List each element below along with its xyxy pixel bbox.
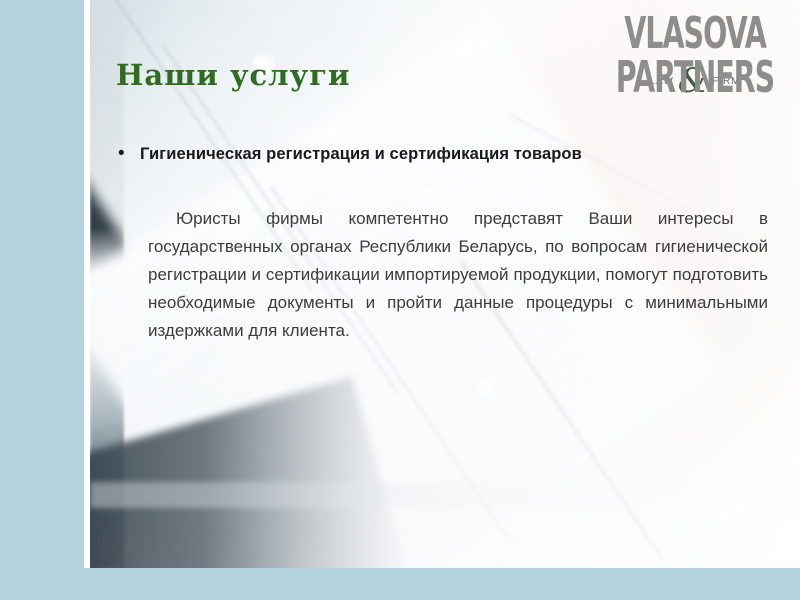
presentation-slide: VLASOVA LAW & FIRM PARTNERS Наши услуги … — [0, 0, 800, 600]
slide-title: Наши услуги — [116, 58, 350, 92]
body-paragraph: Юристы фирмы компетентно представят Ваши… — [148, 205, 768, 345]
left-accent-band — [0, 0, 84, 600]
bottom-accent-band — [0, 568, 800, 600]
logo-bottom-word: PARTNERS — [600, 58, 790, 98]
logo-top-word: VLASOVA — [600, 14, 790, 54]
company-logo: VLASOVA LAW & FIRM PARTNERS — [602, 14, 788, 118]
bullet-point-icon: • — [112, 143, 140, 165]
bullet-item: • Гигиеническая регистрация и сертификац… — [112, 143, 732, 165]
bullet-heading-text: Гигиеническая регистрация и сертификация… — [140, 143, 582, 165]
